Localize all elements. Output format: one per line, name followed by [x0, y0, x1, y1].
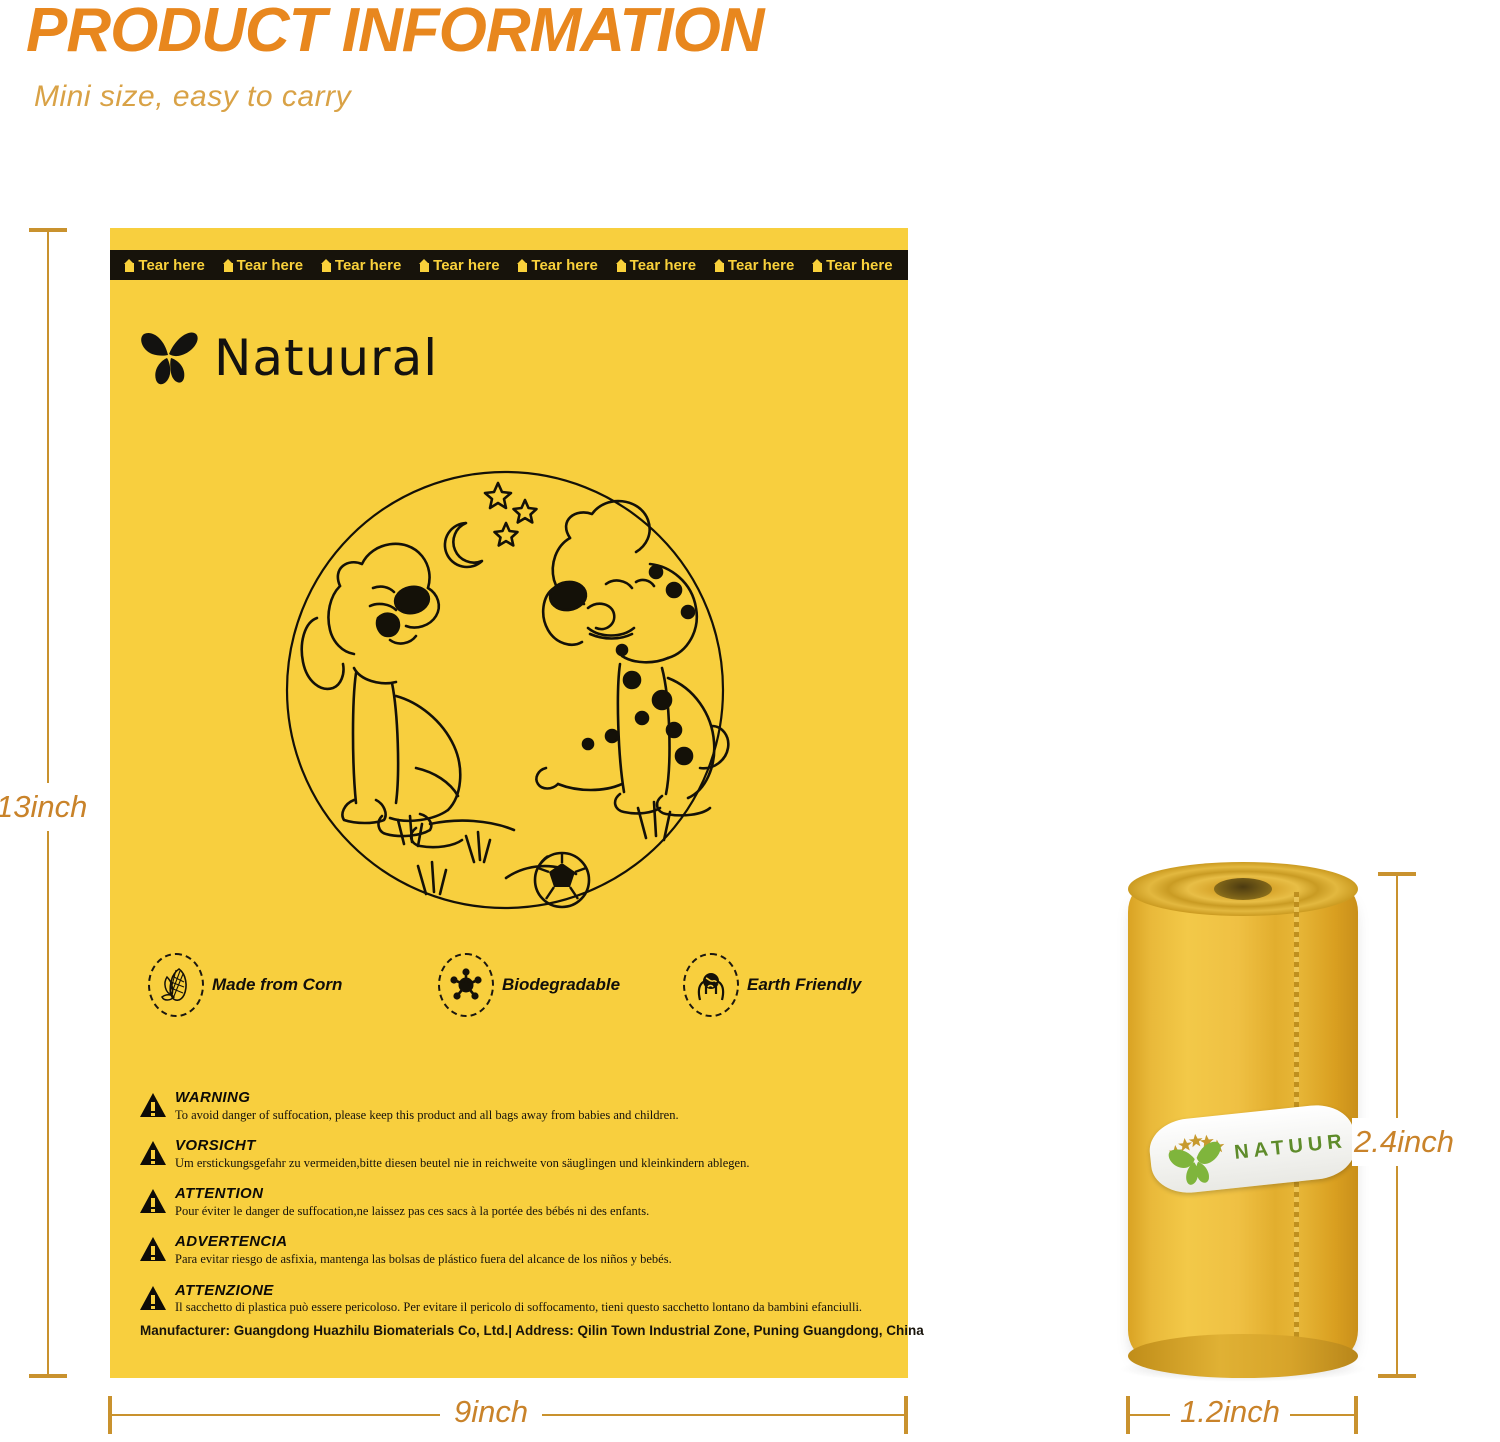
warning-body: Um erstickungsgefahr zu vermeiden,bitte …	[175, 1156, 900, 1172]
butterfly-leaf-icon	[138, 328, 200, 388]
tear-here-item: Tear here	[617, 257, 696, 274]
tear-here-label: Tear here	[335, 257, 401, 274]
roll-height-label: 2.4inch	[1352, 1118, 1456, 1166]
warning-row: ATTENTIONPour éviter le danger de suffoc…	[140, 1186, 900, 1219]
molecule-icon	[438, 953, 494, 1017]
page-title: PRODUCT INFORMATION	[26, 0, 764, 62]
tear-here-item: Tear here	[813, 257, 892, 274]
up-arrow-icon	[420, 259, 429, 272]
roll-height-cap-bottom	[1378, 1374, 1416, 1378]
bag-height-cap-top	[29, 228, 67, 232]
up-arrow-icon	[125, 259, 134, 272]
badge-label: Made from Corn	[212, 975, 342, 995]
badge-label: Earth Friendly	[747, 975, 861, 995]
tear-here-item: Tear here	[125, 257, 204, 274]
two-puppies-playing-illustration	[270, 468, 740, 918]
warning-triangle-icon	[140, 1237, 166, 1261]
corn-icon	[148, 953, 204, 1017]
roll-label-text: NATUUR	[1233, 1130, 1348, 1165]
warning-row: WARNINGTo avoid danger of suffocation, p…	[140, 1090, 900, 1123]
warning-body: To avoid danger of suffocation, please k…	[175, 1108, 900, 1124]
tear-here-label: Tear here	[138, 257, 204, 274]
badge-made-from-corn: Made from Corn	[148, 953, 438, 1017]
up-arrow-icon	[617, 259, 626, 272]
warning-heading: ADVERTENCIA	[175, 1234, 900, 1251]
warning-heading: ATTENTION	[175, 1186, 900, 1203]
warning-triangle-icon	[140, 1189, 166, 1213]
roll-height-cap-top	[1378, 872, 1416, 876]
tear-here-label: Tear here	[531, 257, 597, 274]
tear-here-label: Tear here	[433, 257, 499, 274]
warning-heading: VORSICHT	[175, 1138, 900, 1155]
roll-core-hole	[1214, 878, 1272, 900]
product-bag-front: Tear hereTear hereTear hereTear hereTear…	[110, 228, 908, 1378]
up-arrow-icon	[715, 259, 724, 272]
warning-triangle-icon	[140, 1141, 166, 1165]
hands-holding-earth-icon	[683, 953, 739, 1017]
tear-here-label: Tear here	[826, 257, 892, 274]
warning-heading: ATTENZIONE	[175, 1283, 900, 1300]
bag-width-label: 9inch	[440, 1392, 542, 1432]
warning-body: Para evitar riesgo de asfixia, mantenga …	[175, 1252, 900, 1268]
warning-triangle-icon	[140, 1286, 166, 1310]
warning-heading: WARNING	[175, 1090, 900, 1107]
warning-triangle-icon	[140, 1093, 166, 1117]
badge-earth-friendly: Earth Friendly	[683, 953, 861, 1017]
up-arrow-icon	[322, 259, 331, 272]
warning-row: ATTENZIONEIl sacchetto di plastica può e…	[140, 1283, 900, 1316]
bag-height-cap-bottom	[29, 1374, 67, 1378]
tear-here-item: Tear here	[224, 257, 303, 274]
up-arrow-icon	[518, 259, 527, 272]
page-header: PRODUCT INFORMATION Mini size, easy to c…	[26, 0, 764, 114]
warning-body: Pour éviter le danger de suffocation,ne …	[175, 1204, 900, 1220]
tear-here-item: Tear here	[518, 257, 597, 274]
up-arrow-icon	[224, 259, 233, 272]
warning-row: VORSICHTUm erstickungsgefahr zu vermeide…	[140, 1138, 900, 1171]
roll-bottom-edge	[1128, 1334, 1358, 1378]
green-leaf-logo-icon	[1157, 1120, 1234, 1193]
warning-list: WARNINGTo avoid danger of suffocation, p…	[140, 1090, 900, 1331]
tear-here-item: Tear here	[322, 257, 401, 274]
warning-row: ADVERTENCIAPara evitar riesgo de asfixia…	[140, 1234, 900, 1267]
tear-here-strip: Tear hereTear hereTear hereTear hereTear…	[110, 250, 908, 280]
badge-biodegradable: Biodegradable	[438, 953, 683, 1017]
bag-width-cap-right	[904, 1396, 908, 1434]
roll-width-cap-left	[1126, 1396, 1130, 1434]
tear-here-label: Tear here	[728, 257, 794, 274]
manufacturer-line: Manufacturer: Guangdong Huazhilu Biomate…	[140, 1323, 924, 1338]
tear-here-label: Tear here	[237, 257, 303, 274]
feature-badges: Made from Corn Biodegradable	[148, 953, 888, 1017]
page-subtitle: Mini size, easy to carry	[34, 80, 764, 114]
warning-body: Il sacchetto di plastica può essere peri…	[175, 1300, 900, 1316]
tear-here-label: Tear here	[630, 257, 696, 274]
roll-width-cap-right	[1354, 1396, 1358, 1434]
bag-width-cap-left	[108, 1396, 112, 1434]
brand-name: Natuural	[214, 329, 438, 387]
roll-width-label: 1.2inch	[1170, 1392, 1290, 1432]
brand-lockup: Natuural	[138, 328, 438, 388]
up-arrow-icon	[813, 259, 822, 272]
tear-here-item: Tear here	[420, 257, 499, 274]
bag-roll-product: NATUUR	[1128, 862, 1358, 1378]
bag-height-label: 13inch	[0, 783, 89, 831]
badge-label: Biodegradable	[502, 975, 620, 995]
tear-here-item: Tear here	[715, 257, 794, 274]
